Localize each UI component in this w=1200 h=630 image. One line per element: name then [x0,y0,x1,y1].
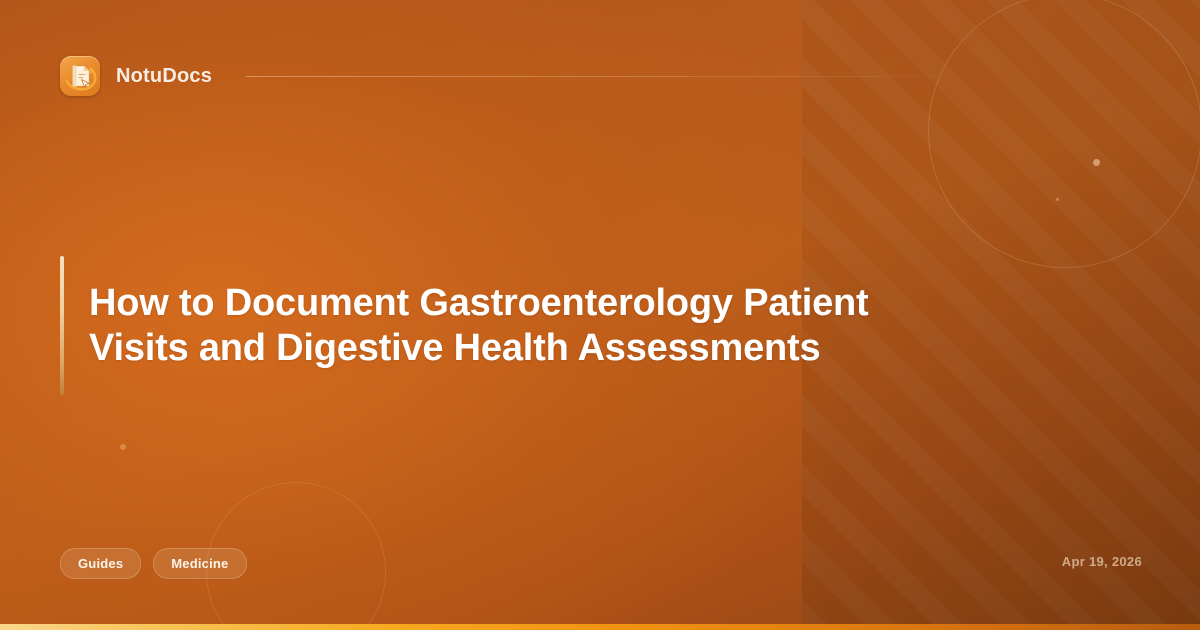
social-card: NotuDocs How to Document Gastroenterolog… [0,0,1200,630]
title-block: How to Document Gastroenterology Patient… [60,256,949,395]
decorative-dot-left [120,444,126,450]
decorative-dot-large [1093,159,1100,166]
document-cursor-logo-icon[interactable] [60,56,100,96]
tag-guides[interactable]: Guides [60,548,141,579]
decorative-dot-small [1056,198,1059,201]
tag-medicine[interactable]: Medicine [153,548,246,579]
decorative-circle-top-right [928,0,1200,268]
title-accent-bar [60,256,64,395]
card-header: NotuDocs [60,54,1140,98]
page-title: How to Document Gastroenterology Patient… [89,281,949,369]
publish-date: Apr 19, 2026 [1062,554,1142,569]
header-divider-line [246,76,1140,77]
brand-name: NotuDocs [116,65,212,88]
tag-list: Guides Medicine [60,548,247,579]
bottom-accent-bar [0,624,1200,630]
